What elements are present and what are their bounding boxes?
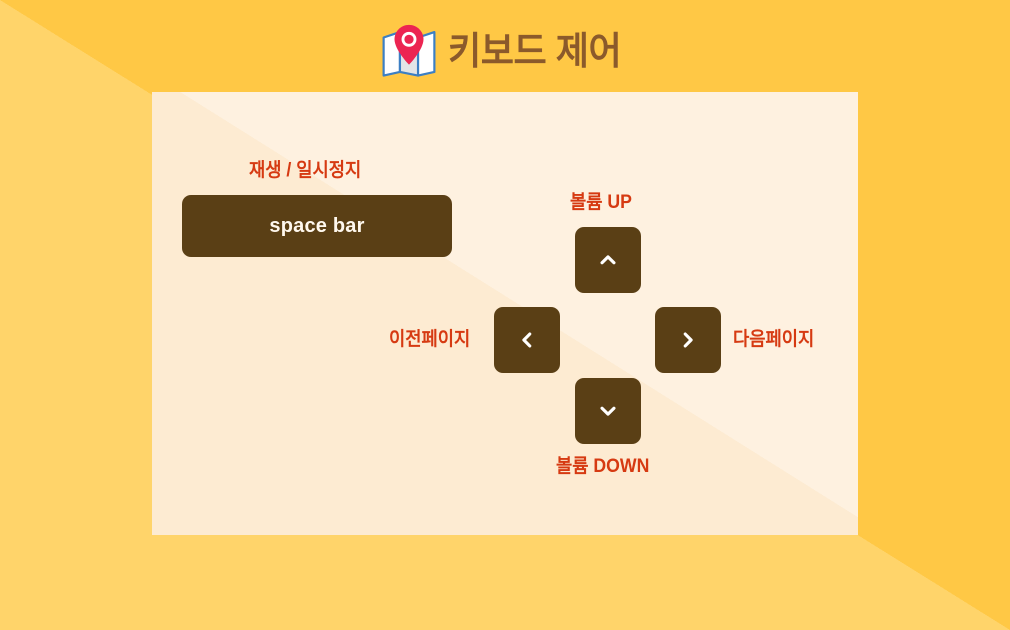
key-space-bar[interactable]: space bar [182, 195, 452, 257]
key-space-bar-label: space bar [269, 216, 364, 236]
key-arrow-right[interactable] [655, 307, 721, 373]
caption-volume-down: 볼륨 DOWN [556, 457, 649, 476]
chevron-up-icon [597, 249, 619, 271]
caption-next-page: 다음페이지 [733, 330, 814, 349]
chevron-left-icon [516, 329, 538, 351]
map-pin-icon [380, 23, 438, 81]
chevron-right-icon [677, 329, 699, 351]
page-header: 키보드 제어 [0, 14, 1010, 90]
chevron-down-icon [597, 400, 619, 422]
caption-previous-page: 이전페이지 [389, 330, 470, 349]
page-title: 키보드 제어 [448, 33, 621, 71]
caption-volume-up: 볼륨 UP [570, 193, 632, 212]
key-arrow-up[interactable] [575, 227, 641, 293]
key-arrow-down[interactable] [575, 378, 641, 444]
caption-play-pause: 재생 / 일시정지 [249, 161, 361, 180]
key-arrow-left[interactable] [494, 307, 560, 373]
